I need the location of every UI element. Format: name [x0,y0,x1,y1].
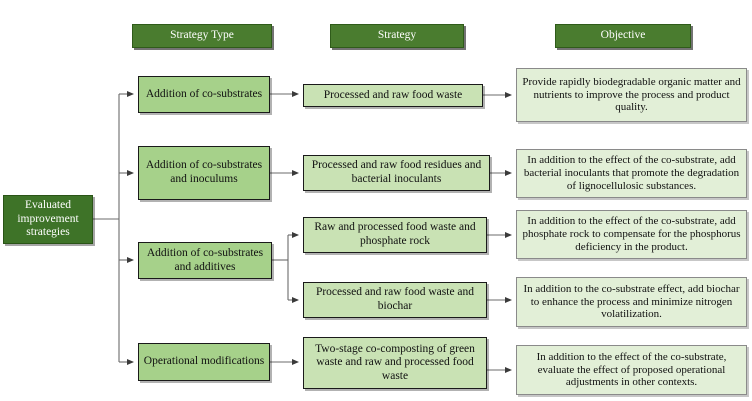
column-header-strategy-type: Strategy Type [132,24,272,48]
root-node-evaluated-improvement-strategies: Evaluated improvement strategies [3,195,93,244]
strategy-type-node-3-label: Addition of co-substrates and additives [139,247,271,274]
strategy-node-4: Processed and raw food waste and biochar [303,282,487,318]
objective-node-3-label: In addition to the effect of the co-subs… [517,215,746,254]
column-header-strategy: Strategy [330,24,464,48]
strategy-type-node-4-label: Operational modifications [139,355,269,369]
objective-node-4-label: In addition to the co-substrate effect, … [517,283,746,322]
strategy-type-node-3: Addition of co-substrates and additives [138,242,272,279]
root-node-label: Evaluated improvement strategies [4,199,92,240]
objective-node-2: In addition to the effect of the co-subs… [516,149,747,198]
flowchart-diagram: Strategy Type Strategy Objective Evaluat… [0,0,752,401]
strategy-node-4-label: Processed and raw food waste and biochar [304,286,486,313]
column-header-objective: Objective [555,24,691,48]
objective-node-1: Provide rapidly biodegradable organic ma… [516,68,747,122]
strategy-node-1: Processed and raw food waste [303,84,483,107]
objective-node-5: In addition to the effect of the co-subs… [516,345,747,395]
objective-node-1-label: Provide rapidly biodegradable organic ma… [517,76,746,115]
strategy-type-node-2-label: Addition of co-substrates and inoculums [139,159,269,186]
strategy-node-2-label: Processed and raw food residues and bact… [304,159,489,186]
strategy-type-node-4: Operational modifications [138,343,270,381]
strategy-node-5-label: Two-stage co-composting of green waste a… [304,343,486,384]
strategy-node-5: Two-stage co-composting of green waste a… [303,337,487,389]
column-header-strategy-label: Strategy [331,29,463,43]
strategy-node-3-label: Raw and processed food waste and phospha… [304,221,486,248]
objective-node-5-label: In addition to the effect of the co-subs… [517,351,746,390]
strategy-type-node-2: Addition of co-substrates and inoculums [138,146,270,200]
strategy-type-node-1: Addition of co-substrates [138,76,270,113]
objective-node-4: In addition to the co-substrate effect, … [516,277,747,327]
strategy-type-node-1-label: Addition of co-substrates [139,88,269,102]
column-header-objective-label: Objective [556,29,690,43]
objective-node-2-label: In addition to the effect of the co-subs… [517,154,746,193]
strategy-node-3: Raw and processed food waste and phospha… [303,217,487,253]
strategy-node-1-label: Processed and raw food waste [304,89,482,103]
strategy-node-2: Processed and raw food residues and bact… [303,155,490,191]
column-header-strategy-type-label: Strategy Type [133,29,271,43]
objective-node-3: In addition to the effect of the co-subs… [516,210,747,259]
